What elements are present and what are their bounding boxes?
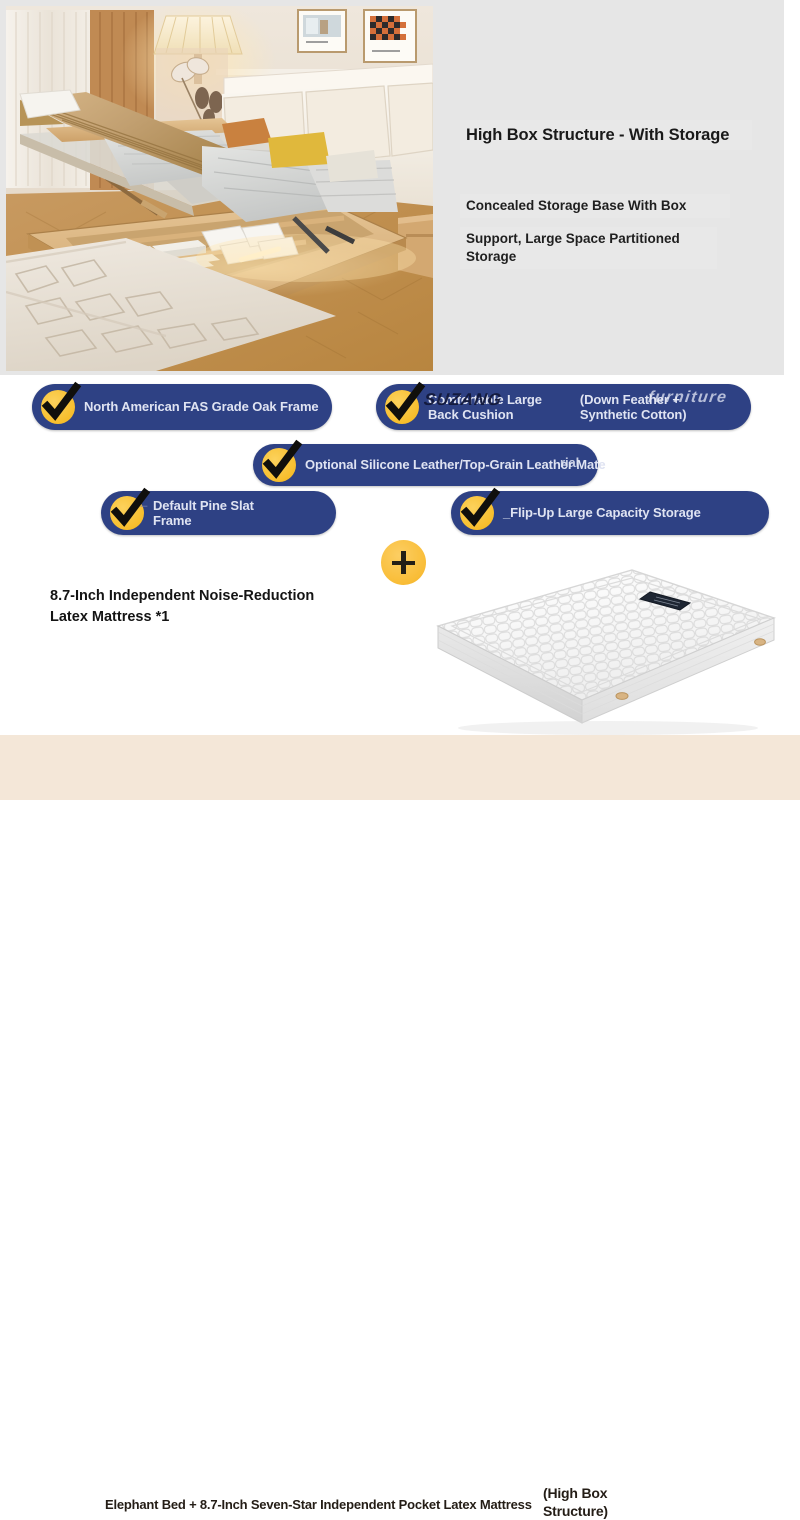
- right-white-margin: [784, 0, 800, 375]
- mattress-product-photo: [432, 552, 780, 737]
- check-circle-icon: [460, 496, 494, 530]
- plus-icon: [381, 540, 426, 585]
- caption-main-text: Elephant Bed + 8.7-Inch Seven-Star Indep…: [105, 1497, 532, 1512]
- caption-overlay-text: (High Box Structure): [543, 1485, 663, 1520]
- product-infographic: High Box Structure - With Storage Concea…: [0, 0, 800, 800]
- feature-badge-sublabel: (Down Feather + Synthetic Cotton): [580, 392, 687, 423]
- feature-badge-flip-up-storage[interactable]: _Flip-Up Large Capacity Storage: [451, 491, 769, 535]
- feature-badge-oak-frame[interactable]: North American FAS Grade Oak Frame: [32, 384, 332, 430]
- feature-badge-label: _Flip-Up Large Capacity Storage: [503, 505, 711, 520]
- feature-badge-label: Optional Silicone Leather/Top-Grain Leat…: [305, 457, 616, 472]
- feature-badge-label: Comfortable Large Back Cushion: [428, 392, 552, 423]
- panel-heading: High Box Structure - With Storage: [460, 120, 752, 150]
- panel-feature-line-1: Concealed Storage Base With Box: [460, 194, 730, 218]
- check-circle-icon: [262, 448, 296, 482]
- bottom-caption-bar: Elephant Bed + 8.7-Inch Seven-Star Indep…: [0, 735, 800, 800]
- right-info-panel-background: [432, 0, 784, 375]
- check-circle-icon: [110, 496, 144, 530]
- feature-badge-label: North American FAS Grade Oak Frame: [84, 399, 329, 414]
- check-circle-icon: [385, 390, 419, 424]
- feature-badge-label: Default Pine Slat Frame: [153, 498, 264, 529]
- feature-badge-back-cushion[interactable]: Comfortable Large Back Cushion (Down Fea…: [376, 384, 751, 430]
- feature-badge-pine-slat-frame[interactable]: Default Pine Slat Frame: [101, 491, 336, 535]
- panel-feature-line-2: Support, Large Space Partitioned Storage: [460, 227, 717, 269]
- feature-badge-leather-material[interactable]: Optional Silicone Leather/Top-Grain Leat…: [253, 444, 598, 486]
- mattress-description: 8.7-Inch Independent Noise-Reduction Lat…: [50, 586, 350, 627]
- bedroom-storage-bed-photo: [6, 6, 433, 371]
- check-circle-icon: [41, 390, 75, 424]
